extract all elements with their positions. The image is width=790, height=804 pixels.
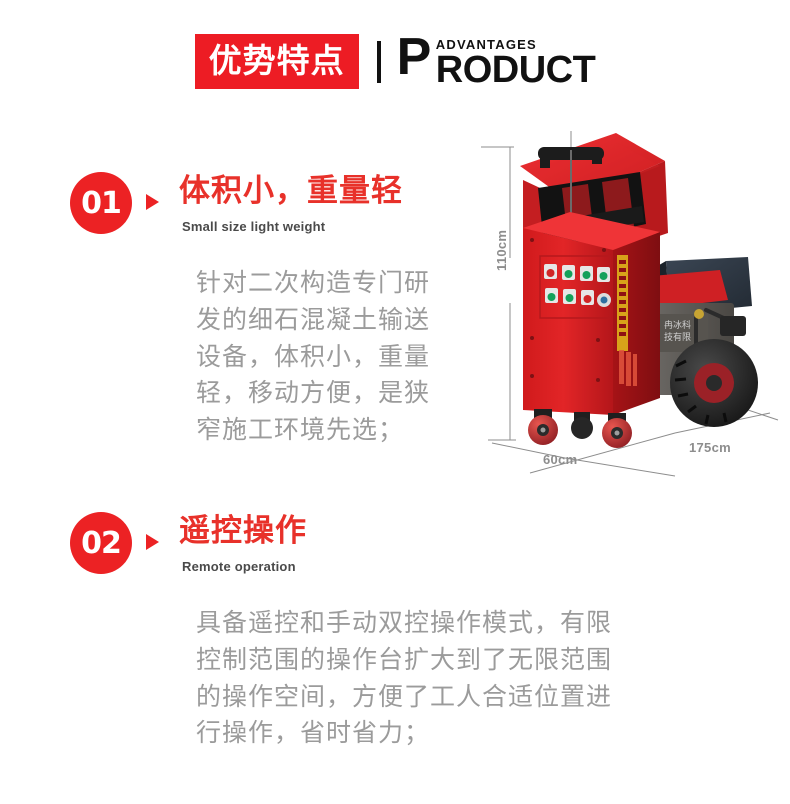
feature-02-body-line: 控制范围的操作台扩大到了无限范围 (196, 642, 736, 679)
machine-handle-post (540, 156, 550, 168)
feature-01-body-line: 针对二次构造专门研 (196, 265, 496, 302)
machine-body-text: 冉冰科 (664, 319, 691, 331)
machine-front-caster-right (602, 413, 632, 448)
feature-01-body-line: 设备，体积小，重量 (196, 339, 496, 376)
banner-badge-cn: 优势特点 (195, 34, 359, 89)
banner-english: P ADVANTAGES RODUCT (397, 35, 596, 88)
feature-02-title-group: 遥控操作 Remote operation (179, 512, 307, 574)
dimension-label-height: 110cm (494, 230, 509, 271)
feature-02-body-line: 行操作，省时省力； (196, 715, 736, 752)
feature-01-header: 01 体积小，重量轻 Small size light weight (70, 172, 403, 234)
feature-01-body-line: 窄施工环境先选； (196, 412, 496, 449)
triangle-arrow-icon (146, 194, 159, 210)
feature-02-title-cn: 遥控操作 (179, 514, 307, 550)
feature-01-body: 针对二次构造专门研 发的细石混凝土输送 设备，体积小，重量 轻，移动方便，是狭 … (196, 265, 496, 449)
machine-gearbox (720, 316, 746, 336)
machine-handle-post (592, 152, 602, 164)
feature-02-body-line: 具备遥控和手动双控操作模式，有限 (196, 605, 736, 642)
banner: 优势特点 P ADVANTAGES RODUCT (0, 34, 790, 89)
product-photo: 冉冰科 技有限 (470, 128, 790, 478)
feature-01-body-line: 发的细石混凝土输送 (196, 302, 496, 339)
feature-02-header: 02 遥控操作 Remote operation (70, 512, 307, 574)
feature-01-title-en: Small size light weight (182, 219, 403, 234)
machine-rear-wheel (670, 339, 758, 427)
dimension-label-depth: 175cm (689, 440, 731, 455)
dimension-label-width: 60cm (543, 452, 577, 467)
machine-valve (694, 309, 704, 319)
machine-body-text: 技有限 (664, 331, 691, 343)
banner-main-word-product: RODUCT (436, 53, 596, 88)
feature-02-number-badge: 02 (70, 512, 132, 574)
machine-lower-vent (619, 350, 637, 386)
product-machine-illustration: 冉冰科 技有限 (470, 128, 790, 478)
machine-front-caster-center (571, 412, 593, 439)
machine-front-caster-left (528, 409, 558, 445)
banner-initial-letter: P (397, 35, 431, 81)
banner-divider (377, 41, 381, 83)
feature-02-body-line: 的操作空间，方便了工人合适位置进 (196, 679, 736, 716)
feature-01-number-badge: 01 (70, 172, 132, 234)
banner-word-stack: ADVANTAGES RODUCT (436, 35, 596, 88)
feature-01-body-line: 轻，移动方便，是狭 (196, 375, 496, 412)
feature-01-title-cn: 体积小，重量轻 (179, 174, 403, 210)
feature-block-02: 02 遥控操作 Remote operation (70, 512, 307, 574)
feature-block-01: 01 体积小，重量轻 Small size light weight (70, 172, 403, 234)
feature-02-body: 具备遥控和手动双控操作模式，有限 控制范围的操作台扩大到了无限范围 的操作空间，… (196, 605, 736, 752)
product-advantages-page: 优势特点 P ADVANTAGES RODUCT 01 体积小，重量轻 Smal… (0, 0, 790, 804)
feature-01-title-group: 体积小，重量轻 Small size light weight (179, 172, 403, 234)
triangle-arrow-icon (146, 534, 159, 550)
feature-02-title-en: Remote operation (182, 559, 307, 574)
